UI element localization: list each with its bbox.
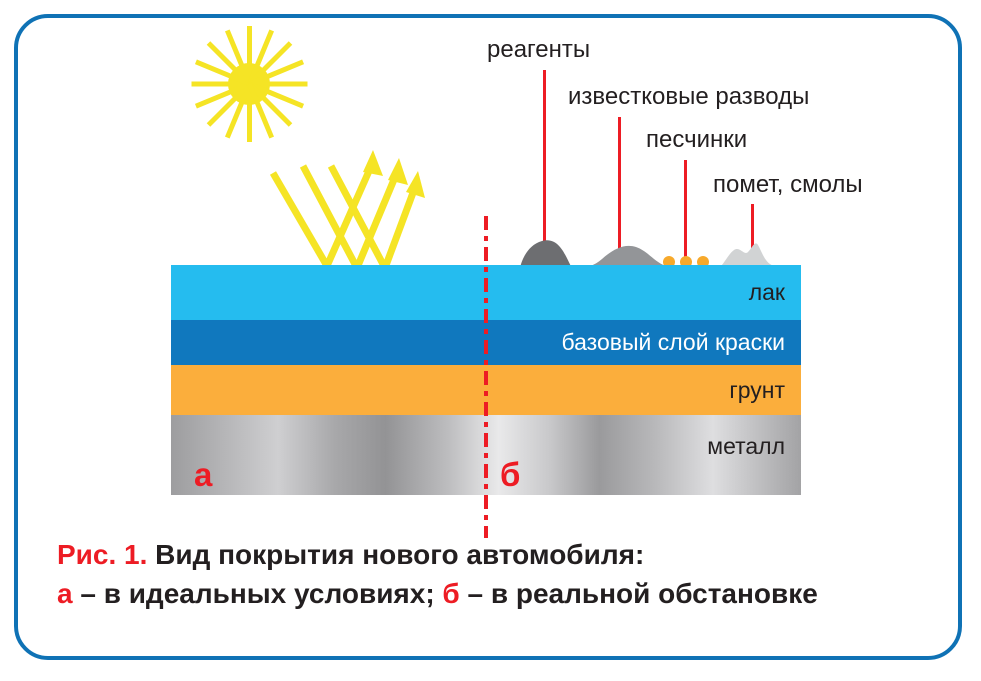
light-ray-arrows-icon [265, 140, 425, 275]
figure-container: реагенты известковые разводы песчинки по… [0, 0, 981, 681]
figure-caption: Рис. 1. Вид покрытия нового автомобиля: … [57, 536, 937, 613]
layer-label-clearcoat: лак [749, 279, 785, 306]
caption-title: Вид покрытия нового автомобиля: [147, 539, 644, 570]
layer-label-primer: грунт [729, 377, 785, 404]
callout-label-droppings: помет, смолы [713, 171, 863, 199]
callout-label-sand: песчинки [646, 126, 747, 154]
callout-label-limescale: известковые разводы [568, 83, 809, 111]
caption-marker-b: б [442, 578, 459, 609]
contaminant-deposits [490, 228, 810, 268]
caption-text-a: – в идеальных условиях; [73, 578, 443, 609]
sun-icon [190, 25, 308, 143]
layer-label-basecoat: базовый слой краски [561, 329, 785, 356]
region-marker-b: б [500, 458, 520, 491]
region-marker-a: а [194, 458, 212, 491]
caption-figure-number: Рис. 1. [57, 539, 147, 570]
region-divider-dash-dot [484, 216, 488, 538]
layer-label-metal: металл [707, 433, 785, 460]
callout-label-reagents: реагенты [487, 36, 590, 64]
caption-line-1: Рис. 1. Вид покрытия нового автомобиля: [57, 536, 937, 575]
caption-text-b: – в реальной обстановке [460, 578, 818, 609]
caption-marker-a: а [57, 578, 73, 609]
caption-line-2: а – в идеальных условиях; б – в реальной… [57, 575, 937, 614]
leader-line-reagents [543, 70, 546, 254]
